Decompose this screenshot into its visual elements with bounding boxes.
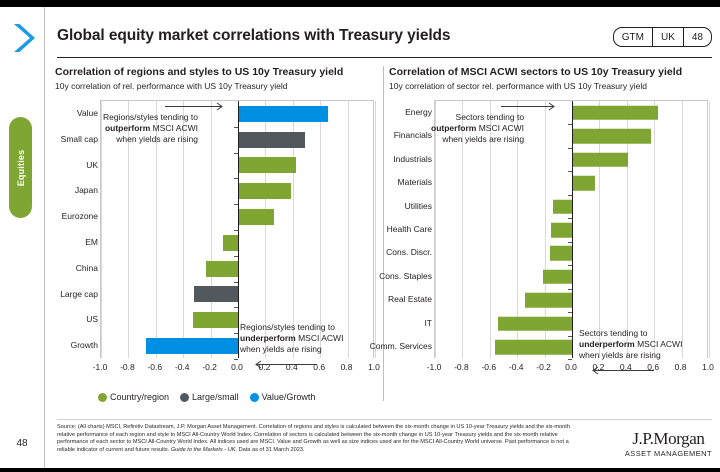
gtm-badge: GTM UK 48: [613, 27, 712, 47]
axis-tick: [568, 312, 572, 313]
logo-wordmark: J.P.Morgan: [625, 430, 712, 448]
category-label: Health Care: [387, 224, 432, 234]
category-label: IT: [424, 318, 432, 328]
chart-bar: [238, 209, 274, 225]
annotation-line-1: Regions/styles tending to: [240, 322, 343, 333]
annotation-line-2: outperform MSCI ACWI: [431, 123, 524, 134]
legend-swatch: [98, 393, 107, 402]
chart-title-right: Correlation of MSCI ACWI sectors to US 1…: [389, 66, 714, 79]
legend-swatch: [250, 393, 259, 402]
category-label: Growth: [71, 340, 98, 350]
page-number: 48: [0, 438, 44, 449]
chart-legend: Country/regionLarge/smallValue/Growth: [98, 392, 322, 402]
logo-tagline: ASSET MANAGEMENT: [625, 449, 712, 458]
x-axis-tick-label: -0.2: [536, 362, 551, 372]
x-axis-tick-label: -0.2: [202, 362, 217, 372]
annotation-arrow-left: [592, 366, 654, 375]
axis-tick: [234, 359, 238, 360]
chart-bar-row: [101, 178, 373, 204]
footer-divider: [57, 419, 712, 420]
chart-subtitle-left: 10y correlation of rel. performance with…: [55, 80, 380, 92]
chart-bar: [238, 157, 296, 173]
zero-axis-line: [572, 101, 573, 358]
chart-bar: [543, 270, 572, 285]
gridline: [709, 101, 710, 358]
chart-bar: [206, 261, 238, 277]
source-note: Source: (All charts) MSCI, Refinitiv Dat…: [57, 424, 577, 454]
badge-gtm: GTM: [614, 28, 652, 46]
chart-bar-row: [101, 256, 373, 282]
chart-bar: [572, 176, 595, 191]
legend-item: Large/small: [180, 392, 239, 402]
slide-root: Equities 48 Global equity market correla…: [0, 0, 720, 472]
equities-tab-label: Equities: [16, 149, 26, 186]
chart-bar: [223, 235, 238, 251]
left-rail: [0, 7, 44, 468]
annotation-line-1: Sectors tending to: [579, 328, 682, 339]
x-axis-tick-label: -0.6: [481, 362, 496, 372]
annotation-line-1: Sectors tending to: [431, 112, 524, 123]
chart-bar-row: [435, 265, 707, 288]
x-axis-tick-label: 0.0: [231, 362, 243, 372]
chart-bar: [572, 129, 651, 144]
axis-tick: [568, 336, 572, 337]
gridline: [375, 101, 376, 358]
chart-bar: [572, 152, 628, 167]
x-axis-tick-label: -0.8: [454, 362, 469, 372]
x-axis-tick-label: -0.4: [509, 362, 524, 372]
x-axis-tick-label: -0.4: [175, 362, 190, 372]
annotation-arrow-right: [501, 102, 555, 111]
legend-swatch: [180, 393, 189, 402]
x-axis-tick-label: 1.0: [702, 362, 714, 372]
x-axis-tick-label: 0.8: [675, 362, 687, 372]
axis-tick: [234, 307, 238, 308]
axis-tick: [234, 127, 238, 128]
category-label: Energy: [405, 107, 432, 117]
axis-tick: [234, 153, 238, 154]
chart-bar-row: [435, 148, 707, 171]
zero-axis-line: [238, 101, 239, 358]
axis-tick: [234, 256, 238, 257]
chart-bar: [550, 246, 572, 261]
chart-bar-row: [101, 230, 373, 256]
chart-bar-row: [101, 204, 373, 230]
chart-bar: [146, 338, 238, 354]
category-label: Industrials: [393, 154, 432, 164]
chart-bar: [553, 199, 572, 214]
bottom-edge-bar: [0, 468, 720, 472]
axis-tick: [568, 289, 572, 290]
chart-bar: [193, 312, 238, 328]
category-label: Large cap: [60, 289, 98, 299]
legend-label: Large/small: [192, 392, 239, 402]
chart-bar: [238, 132, 305, 148]
category-label: Utilities: [405, 201, 432, 211]
chart-bar: [238, 106, 328, 122]
axis-tick: [234, 204, 238, 205]
chart-bar: [495, 340, 572, 355]
annotation-arrow-left: [255, 360, 317, 369]
axis-tick: [234, 333, 238, 334]
chart-bar-row: [435, 242, 707, 265]
rail-divider: [44, 7, 45, 468]
annotation-line-3: when yields are rising: [240, 344, 343, 355]
axis-tick: [234, 282, 238, 283]
legend-label: Value/Growth: [262, 392, 316, 402]
chart-bar-row: [435, 218, 707, 241]
x-axis-tick-label: -1.0: [93, 362, 108, 372]
axis-tick: [568, 195, 572, 196]
axis-tick: [234, 230, 238, 231]
axis-tick: [568, 218, 572, 219]
category-label: Value: [77, 108, 98, 118]
axis-tick: [568, 148, 572, 149]
axis-tick: [568, 265, 572, 266]
x-axis: -1.0-0.8-0.6-0.4-0.20.00.20.40.60.81.0: [100, 358, 374, 380]
chart-bar: [498, 317, 572, 332]
annotation-line-2: underperform MSCI ACWI: [579, 339, 682, 350]
chevron-right-icon: [8, 21, 38, 55]
axis-tick: [568, 359, 572, 360]
source-italic: Guide to the Markets - UK.: [171, 447, 237, 453]
annotation-arrow-right: [165, 102, 223, 111]
category-label: US: [86, 314, 98, 324]
chart-panel-acwi-sectors: Correlation of MSCI ACWI sectors to US 1…: [389, 66, 714, 411]
chart-bar-row: [101, 153, 373, 179]
category-label: Materials: [398, 177, 432, 187]
annotation-line-3: when yields are rising: [103, 134, 198, 145]
axis-tick: [568, 124, 572, 125]
annotation-line-1: Regions/styles tending to: [103, 112, 198, 123]
category-label: Real Estate: [388, 294, 432, 304]
category-label: Comm. Services: [370, 341, 432, 351]
annotation-underperform: Sectors tending tounderperform MSCI ACWI…: [579, 328, 682, 361]
category-axis: EnergyFinancialsIndustrialsMaterialsUtil…: [389, 100, 432, 358]
annotation-outperform: Regions/styles tending tooutperform MSCI…: [103, 112, 198, 145]
x-axis: -1.0-0.8-0.6-0.4-0.20.00.20.40.60.81.0: [434, 358, 708, 380]
source-text: Source: (All charts) MSCI, Refinitiv Dat…: [57, 424, 570, 453]
category-label: Cons. Discr.: [386, 247, 432, 257]
annotation-line-2: outperform MSCI ACWI: [103, 123, 198, 134]
category-axis: ValueSmall capUKJapanEurozoneEMChinaLarg…: [55, 100, 98, 358]
chart-title-left: Correlation of regions and styles to US …: [55, 66, 380, 79]
x-axis-tick-label: 0.0: [565, 362, 577, 372]
annotation-outperform: Sectors tending tooutperform MSCI ACWIwh…: [431, 112, 524, 145]
annotation-underperform: Regions/styles tending tounderperform MS…: [240, 322, 343, 355]
sidebar-section-equities[interactable]: Equities: [9, 117, 32, 218]
chart-plot-right: EnergyFinancialsIndustrialsMaterialsUtil…: [389, 100, 714, 380]
chart-bar: [551, 223, 572, 238]
x-axis-tick-label: 1.0: [368, 362, 380, 372]
annotation-line-2: underperform MSCI ACWI: [240, 333, 343, 344]
axis-tick: [568, 171, 572, 172]
category-label: Japan: [75, 185, 98, 195]
axis-tick: [568, 242, 572, 243]
chart-bar-row: [435, 171, 707, 194]
legend-item: Country/region: [98, 392, 169, 402]
axis-tick: [234, 178, 238, 179]
x-axis-tick-label: -1.0: [427, 362, 442, 372]
chart-bar-row: [435, 195, 707, 218]
header-divider: [57, 57, 712, 58]
badge-region: UK: [652, 28, 683, 46]
page-title: Global equity market correlations with T…: [57, 27, 450, 45]
chart-bar: [238, 183, 291, 199]
x-axis-tick-label: 0.8: [341, 362, 353, 372]
category-label: Cons. Staples: [379, 271, 432, 281]
top-edge-bar: [0, 0, 720, 7]
chart-plot-left: ValueSmall capUKJapanEurozoneEMChinaLarg…: [55, 100, 380, 380]
chart-bar-row: [101, 282, 373, 308]
source-tail: Data as of 31 March 2023.: [237, 447, 304, 453]
annotation-line-3: when yields are rising: [431, 134, 524, 145]
x-axis-tick-label: -0.8: [120, 362, 135, 372]
category-label: Eurozone: [62, 211, 98, 221]
chart-bar-row: [435, 289, 707, 312]
chart-panel-regions-styles: Correlation of regions and styles to US …: [55, 66, 380, 411]
category-label: EM: [85, 237, 98, 247]
badge-page: 48: [683, 28, 711, 46]
chart-subtitle-right: 10y correlation of sector rel. performan…: [389, 80, 714, 92]
chart-bar: [525, 293, 572, 308]
annotation-line-3: when yields are rising: [579, 350, 682, 361]
chart-bar: [194, 286, 238, 302]
category-label: China: [76, 263, 98, 273]
legend-item: Value/Growth: [250, 392, 316, 402]
legend-label: Country/region: [110, 392, 169, 402]
chart-bar: [572, 105, 658, 120]
x-axis-tick-label: -0.6: [147, 362, 162, 372]
jpmorgan-logo: J.P.Morgan ASSET MANAGEMENT: [625, 430, 712, 458]
category-label: Small cap: [61, 134, 98, 144]
category-label: UK: [86, 160, 98, 170]
category-label: Financials: [394, 130, 432, 140]
